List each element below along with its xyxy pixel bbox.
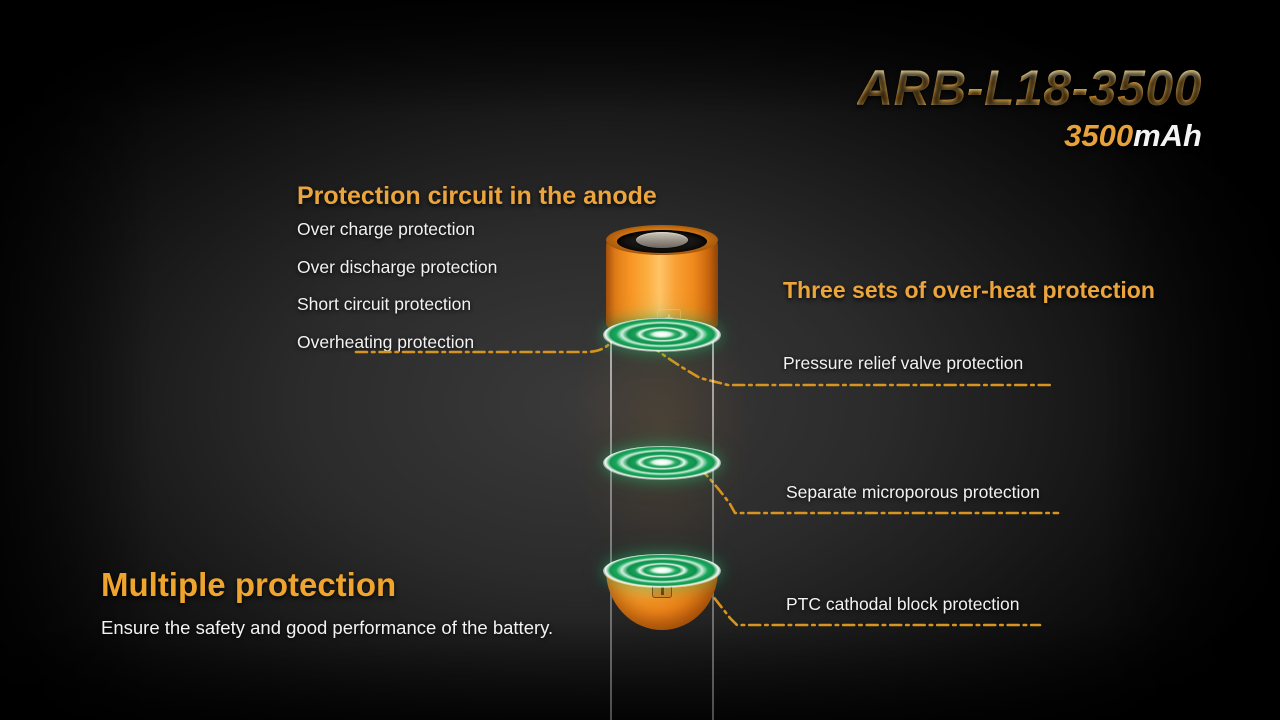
product-title: ARB-L18-3500 — [857, 62, 1202, 115]
battery-transparent-shell — [610, 336, 714, 720]
battery-illustration: + — [592, 228, 732, 620]
product-title-block: ARB-L18-3500 3500mAh — [857, 62, 1202, 154]
anode-section-heading: Protection circuit in the anode — [297, 182, 657, 211]
callout-label-ptc-cathodal-block: PTC cathodal block protection — [786, 594, 1019, 615]
callout-label-separate-microporous: Separate microporous protection — [786, 482, 1040, 503]
product-capacity: 3500mAh — [857, 118, 1202, 154]
anode-feature-list: Over charge protection Over discharge pr… — [297, 219, 497, 369]
list-item: Overheating protection — [297, 332, 497, 353]
infographic-canvas: ARB-L18-3500 3500mAh Protection circuit … — [0, 0, 1280, 720]
positive-terminal-contact — [636, 232, 688, 248]
list-item: Over discharge protection — [297, 257, 497, 278]
shell-edge-right — [712, 336, 714, 720]
separate-microporous-disc — [603, 446, 721, 480]
callout-label-pressure-relief-valve: Pressure relief valve protection — [783, 353, 1023, 374]
overheat-section-heading: Three sets of over-heat protection — [783, 277, 1155, 304]
multiple-protection-subtitle: Ensure the safety and good performance o… — [101, 617, 553, 639]
shell-edge-left — [610, 336, 612, 720]
capacity-unit: mAh — [1133, 118, 1202, 153]
capacity-value: 3500 — [1064, 118, 1133, 153]
list-item: Short circuit protection — [297, 294, 497, 315]
multiple-protection-heading: Multiple protection — [101, 566, 396, 604]
list-item: Over charge protection — [297, 219, 497, 240]
pressure-relief-valve-disc — [603, 318, 721, 352]
ptc-cathodal-block-disc — [603, 554, 721, 588]
